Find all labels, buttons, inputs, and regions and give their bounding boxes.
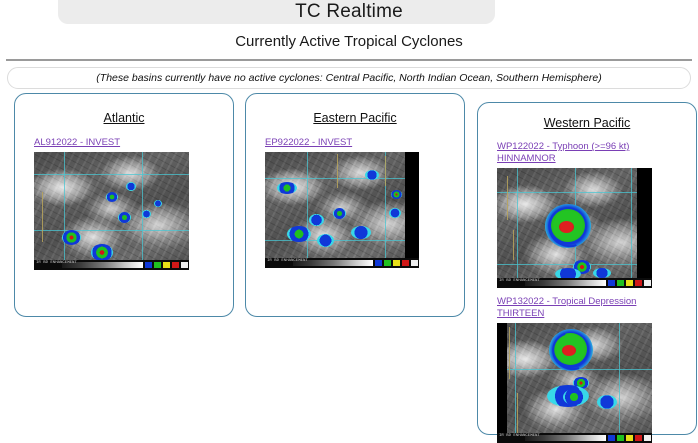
basin-panel-atlantic: Atlantic AL912022 - INVEST <box>14 93 234 317</box>
storm-link-ep922022[interactable]: EP922022 - INVEST <box>265 137 445 149</box>
satellite-image-wp122022[interactable]: IR BD ENHANCEMENT <box>497 168 652 288</box>
colorbar-label: IR BD ENHANCEMENT <box>499 434 540 438</box>
colorbar-swatch <box>617 280 624 286</box>
colorbar-swatch <box>402 260 409 266</box>
colorbar-swatch <box>384 260 391 266</box>
colorbar-swatch <box>608 435 615 441</box>
coastline <box>337 154 338 188</box>
coastline <box>42 192 43 242</box>
colorbar-swatch <box>181 262 188 268</box>
image-colorbar: IR BD ENHANCEMENT <box>497 278 652 288</box>
convection-blob <box>593 268 611 278</box>
image-edge-mask <box>637 168 652 288</box>
convection-blob <box>333 208 346 219</box>
storm-link-al912022[interactable]: AL912022 - INVEST <box>34 137 214 149</box>
convection-blob <box>351 226 371 239</box>
page-subtitle: Currently Active Tropical Cyclones <box>0 32 698 52</box>
convection-blob <box>391 190 402 199</box>
convection-blob <box>287 226 311 242</box>
coastline <box>513 230 514 260</box>
convection-blob <box>142 210 151 218</box>
colorbar-swatch <box>644 435 651 441</box>
colorbar-swatch <box>172 262 179 268</box>
typhoon-eye-structure <box>545 204 591 248</box>
basin-title-atlantic: Atlantic <box>15 111 233 125</box>
colorbar-swatch <box>154 262 161 268</box>
image-colorbar: IR BD ENHANCEMENT <box>265 258 419 268</box>
convection-blob <box>563 389 585 405</box>
convection-blob <box>106 192 118 202</box>
basin-title-western-pacific: Western Pacific <box>478 116 696 130</box>
colorbar-swatch <box>393 260 400 266</box>
colorbar-swatch <box>608 280 615 286</box>
coastline <box>509 327 510 379</box>
convection-blob <box>317 234 334 247</box>
inactive-basins-notice-text: (These basins currently have no active c… <box>96 72 601 84</box>
spiral-band <box>546 325 598 376</box>
image-colorbar: IR BD ENHANCEMENT <box>34 260 189 270</box>
convection-blob <box>126 182 136 191</box>
basin-panel-eastern-pacific: Eastern Pacific EP922022 - INVEST <box>245 93 465 317</box>
storm-entry-ep922022: EP922022 - INVEST <box>246 137 464 268</box>
basin-panel-western-pacific: Western Pacific WP122022 - Typhoon (>=96… <box>477 102 697 435</box>
satellite-image-ep922022[interactable]: IR BD ENHANCEMENT <box>265 152 419 268</box>
colorbar-swatch <box>411 260 418 266</box>
image-colorbar: IR BD ENHANCEMENT <box>497 433 652 443</box>
convection-blob <box>309 214 324 226</box>
colorbar-swatch <box>635 280 642 286</box>
satellite-image-wp132022[interactable]: IR BD ENHANCEMENT <box>497 323 652 443</box>
page-title: TC Realtime <box>0 0 698 24</box>
basin-title-eastern-pacific: Eastern Pacific <box>246 111 464 125</box>
colorbar-swatch <box>375 260 382 266</box>
colorbar-swatch <box>644 280 651 286</box>
colorbar-swatch <box>163 262 170 268</box>
typhoon-eye-structure <box>549 329 593 371</box>
colorbar-label: IR BD ENHANCEMENT <box>267 259 308 263</box>
convection-blob <box>154 200 162 207</box>
image-edge-mask <box>497 323 507 443</box>
convection-blob <box>365 170 379 180</box>
convection-blob <box>277 182 297 194</box>
basin-panels: Atlantic AL912022 - INVEST <box>0 93 698 435</box>
coastline <box>385 156 386 186</box>
convection-blob <box>91 244 113 261</box>
convection-blob <box>118 212 131 223</box>
storm-entry-wp132022: WP132022 - Tropical Depression THIRTEEN <box>478 296 696 443</box>
header-divider <box>6 59 692 61</box>
colorbar-label: IR BD ENHANCEMENT <box>36 261 77 265</box>
storm-entry-wp122022: WP122022 - Typhoon (>=96 kt) HINNAMNOR <box>478 141 696 288</box>
satellite-image-al912022[interactable]: IR BD ENHANCEMENT <box>34 152 189 270</box>
colorbar-swatch <box>617 435 624 441</box>
colorbar-swatch <box>626 280 633 286</box>
image-edge-mask <box>405 152 419 268</box>
colorbar-swatch <box>145 262 152 268</box>
spiral-band <box>542 200 597 254</box>
coastline <box>517 393 518 433</box>
convection-blob <box>597 395 617 409</box>
header-bar: TC Realtime <box>0 0 698 24</box>
storm-link-wp122022[interactable]: WP122022 - Typhoon (>=96 kt) HINNAMNOR <box>497 141 677 165</box>
colorbar-swatch <box>635 435 642 441</box>
convection-blob <box>389 208 401 218</box>
storm-link-wp132022[interactable]: WP132022 - Tropical Depression THIRTEEN <box>497 296 677 320</box>
colorbar-label: IR BD ENHANCEMENT <box>499 279 540 283</box>
inactive-basins-notice: (These basins currently have no active c… <box>7 67 691 89</box>
coastline <box>507 176 508 220</box>
colorbar-swatch <box>626 435 633 441</box>
storm-entry-al912022: AL912022 - INVEST IR B <box>15 137 233 270</box>
convection-blob <box>62 230 81 245</box>
